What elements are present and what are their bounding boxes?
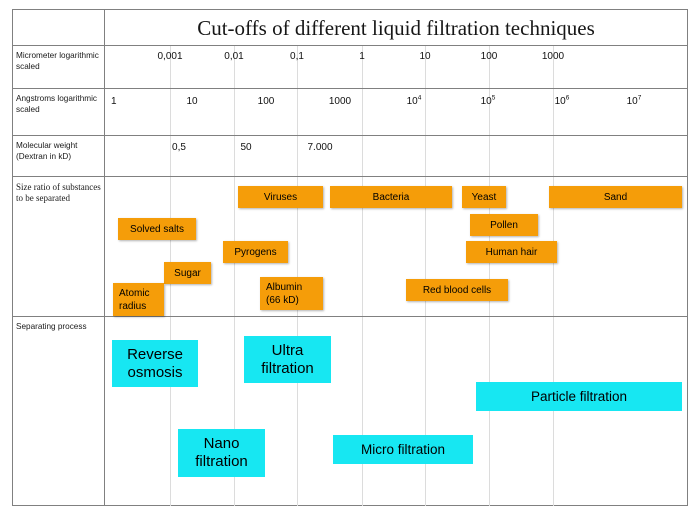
substance-box-albumin: Albumin (66 kD) xyxy=(260,277,323,310)
tick-micrometer-6: 1000 xyxy=(542,51,564,62)
tick-micrometer-3: 1 xyxy=(359,51,365,62)
substance-box-human-hair: Human hair xyxy=(466,241,557,263)
tick-micrometer-2: 0,1 xyxy=(290,51,304,62)
tick-micrometer-5: 100 xyxy=(481,51,498,62)
process-box-nano-filtration: Nano filtration xyxy=(178,429,265,477)
substance-box-bacteria: Bacteria xyxy=(330,186,452,208)
gridline-100 xyxy=(489,45,490,506)
tick-angstrom-3: 1000 xyxy=(329,96,351,107)
row-separator-2 xyxy=(12,88,688,89)
process-box-particle-filtration: Particle filtration xyxy=(476,382,682,411)
process-box-reverse-osmosis: Reverse osmosis xyxy=(112,340,198,387)
row-label-separating-process: Separating process xyxy=(16,322,102,333)
tick-angstrom-0: 1 xyxy=(111,96,117,107)
label-column-divider xyxy=(104,9,105,506)
tick-molweight-1: 50 xyxy=(240,142,251,153)
row-label-size-ratio: Size ratio of substances to be separated xyxy=(16,182,102,204)
substance-box-yeast: Yeast xyxy=(462,186,506,208)
process-box-micro-filtration: Micro filtration xyxy=(333,435,473,464)
substance-box-sand: Sand xyxy=(549,186,682,208)
tick-micrometer-0: 0,001 xyxy=(157,51,182,62)
tick-micrometer-4: 10 xyxy=(419,51,430,62)
substance-box-viruses: Viruses xyxy=(238,186,323,208)
tick-molweight-2: 7.000 xyxy=(307,142,332,153)
tick-molweight-0: 0,5 xyxy=(172,142,186,153)
process-box-ultra-filtration: Ultra filtration xyxy=(244,336,331,383)
tick-angstrom-7: 107 xyxy=(627,96,642,107)
substance-box-red-blood-cells: Red blood cells xyxy=(406,279,508,301)
row-label-micrometer: Micrometer logarithmic scaled xyxy=(16,51,102,72)
row-separator-5 xyxy=(12,316,688,317)
tick-angstrom-4: 104 xyxy=(407,96,422,107)
row-separator-3 xyxy=(12,135,688,136)
substance-box-atomic-radius: Atomic radius xyxy=(113,283,164,316)
row-separator-1 xyxy=(12,45,688,46)
substance-box-pyrogens: Pyrogens xyxy=(223,241,288,263)
substance-box-pollen: Pollen xyxy=(470,214,538,236)
substance-box-solved-salts: Solved salts xyxy=(118,218,196,240)
substance-box-sugar: Sugar xyxy=(164,262,211,284)
page-title: Cut-offs of different liquid filtration … xyxy=(104,12,688,45)
tick-angstrom-1: 10 xyxy=(186,96,197,107)
tick-angstrom-6: 106 xyxy=(555,96,570,107)
row-label-molecular-weight: Molecular weight (Dextran in kD) xyxy=(16,141,102,162)
tick-micrometer-1: 0,01 xyxy=(224,51,243,62)
row-separator-4 xyxy=(12,176,688,177)
gridline-01 xyxy=(297,45,298,506)
filtration-cutoff-chart: Cut-offs of different liquid filtration … xyxy=(0,0,700,525)
gridline-1000 xyxy=(553,45,554,506)
row-label-angstroms: Angstroms logarithmic scaled xyxy=(16,94,102,115)
tick-angstrom-5: 105 xyxy=(481,96,496,107)
table-frame xyxy=(12,9,688,506)
tick-angstrom-2: 100 xyxy=(258,96,275,107)
